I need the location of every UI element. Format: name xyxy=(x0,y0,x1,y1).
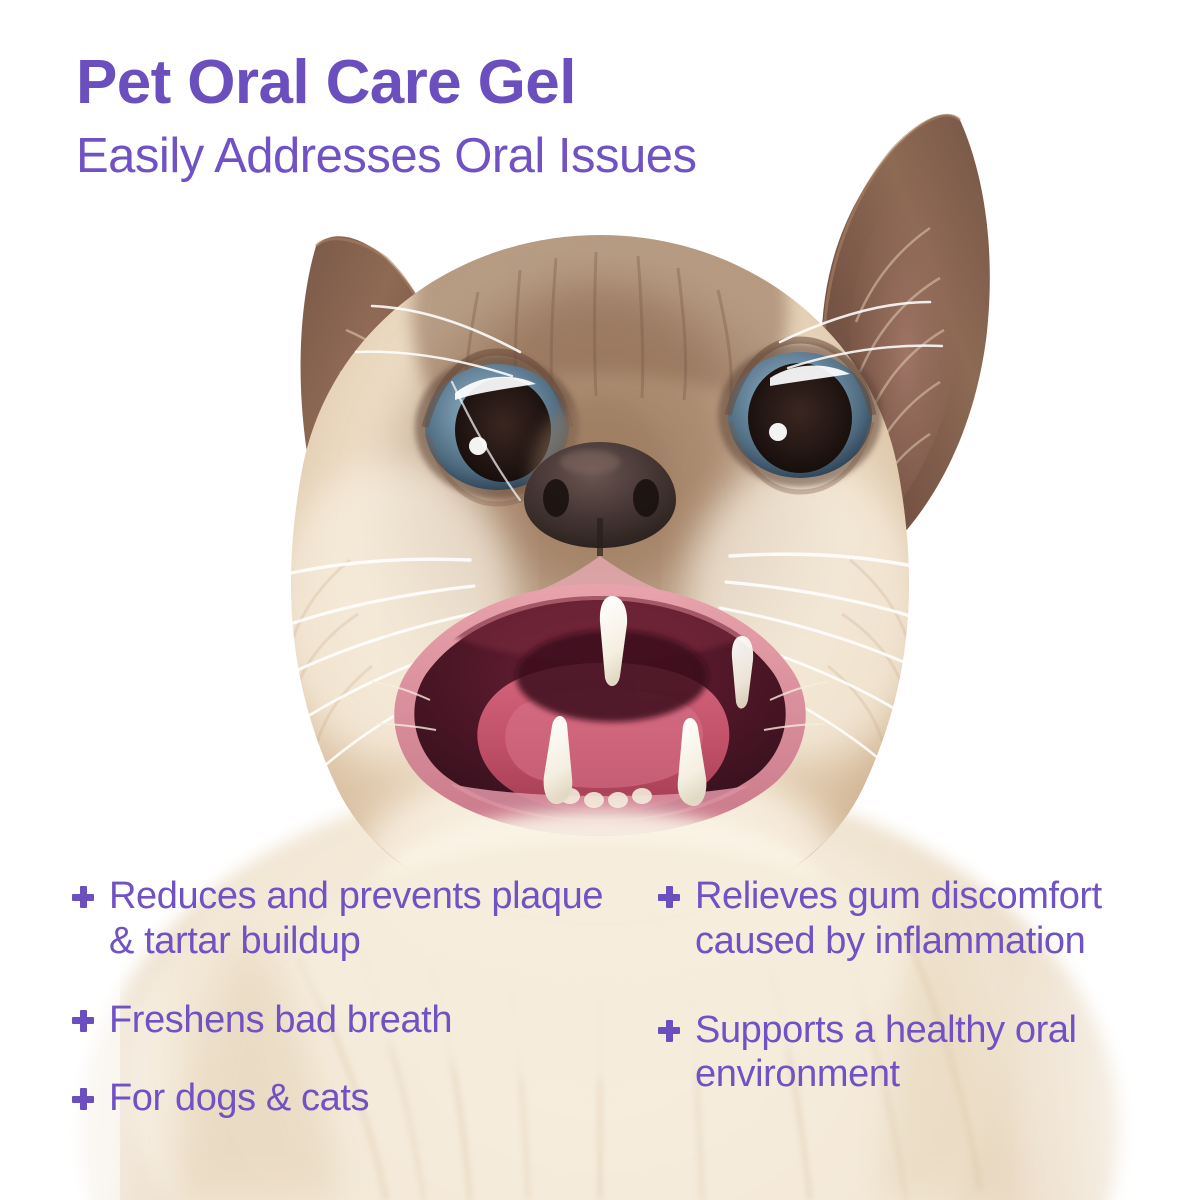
product-feature-card: Pet Oral Care Gel Easily Addresses Oral … xyxy=(0,0,1200,1200)
plus-icon xyxy=(658,886,680,908)
header-block: Pet Oral Care Gel Easily Addresses Oral … xyxy=(76,52,1076,181)
text-overlay: Pet Oral Care Gel Easily Addresses Oral … xyxy=(0,0,1200,1200)
page-subtitle: Easily Addresses Oral Issues xyxy=(76,132,1076,181)
benefits-list-left: Reduces and prevents plaque & tartar bui… xyxy=(72,874,612,1155)
list-item: Supports a healthy oral environment xyxy=(658,1008,1158,1098)
page-title: Pet Oral Care Gel xyxy=(76,52,1076,114)
plus-icon xyxy=(72,886,94,908)
benefits-list-right: Relieves gum discomfort caused by inflam… xyxy=(658,874,1158,1141)
list-item-label: Freshens bad breath xyxy=(109,998,452,1043)
list-item: Freshens bad breath xyxy=(72,998,612,1043)
plus-icon xyxy=(72,1088,94,1110)
list-item-label: Supports a healthy oral environment xyxy=(695,1008,1158,1098)
list-item-label: For dogs & cats xyxy=(109,1076,369,1121)
list-item: Reduces and prevents plaque & tartar bui… xyxy=(72,874,612,964)
list-item: For dogs & cats xyxy=(72,1076,612,1121)
plus-icon xyxy=(72,1010,94,1032)
list-item-label: Reduces and prevents plaque & tartar bui… xyxy=(109,874,612,964)
list-item: Relieves gum discomfort caused by inflam… xyxy=(658,874,1158,964)
plus-icon xyxy=(658,1020,680,1042)
list-item-label: Relieves gum discomfort caused by inflam… xyxy=(695,874,1158,964)
